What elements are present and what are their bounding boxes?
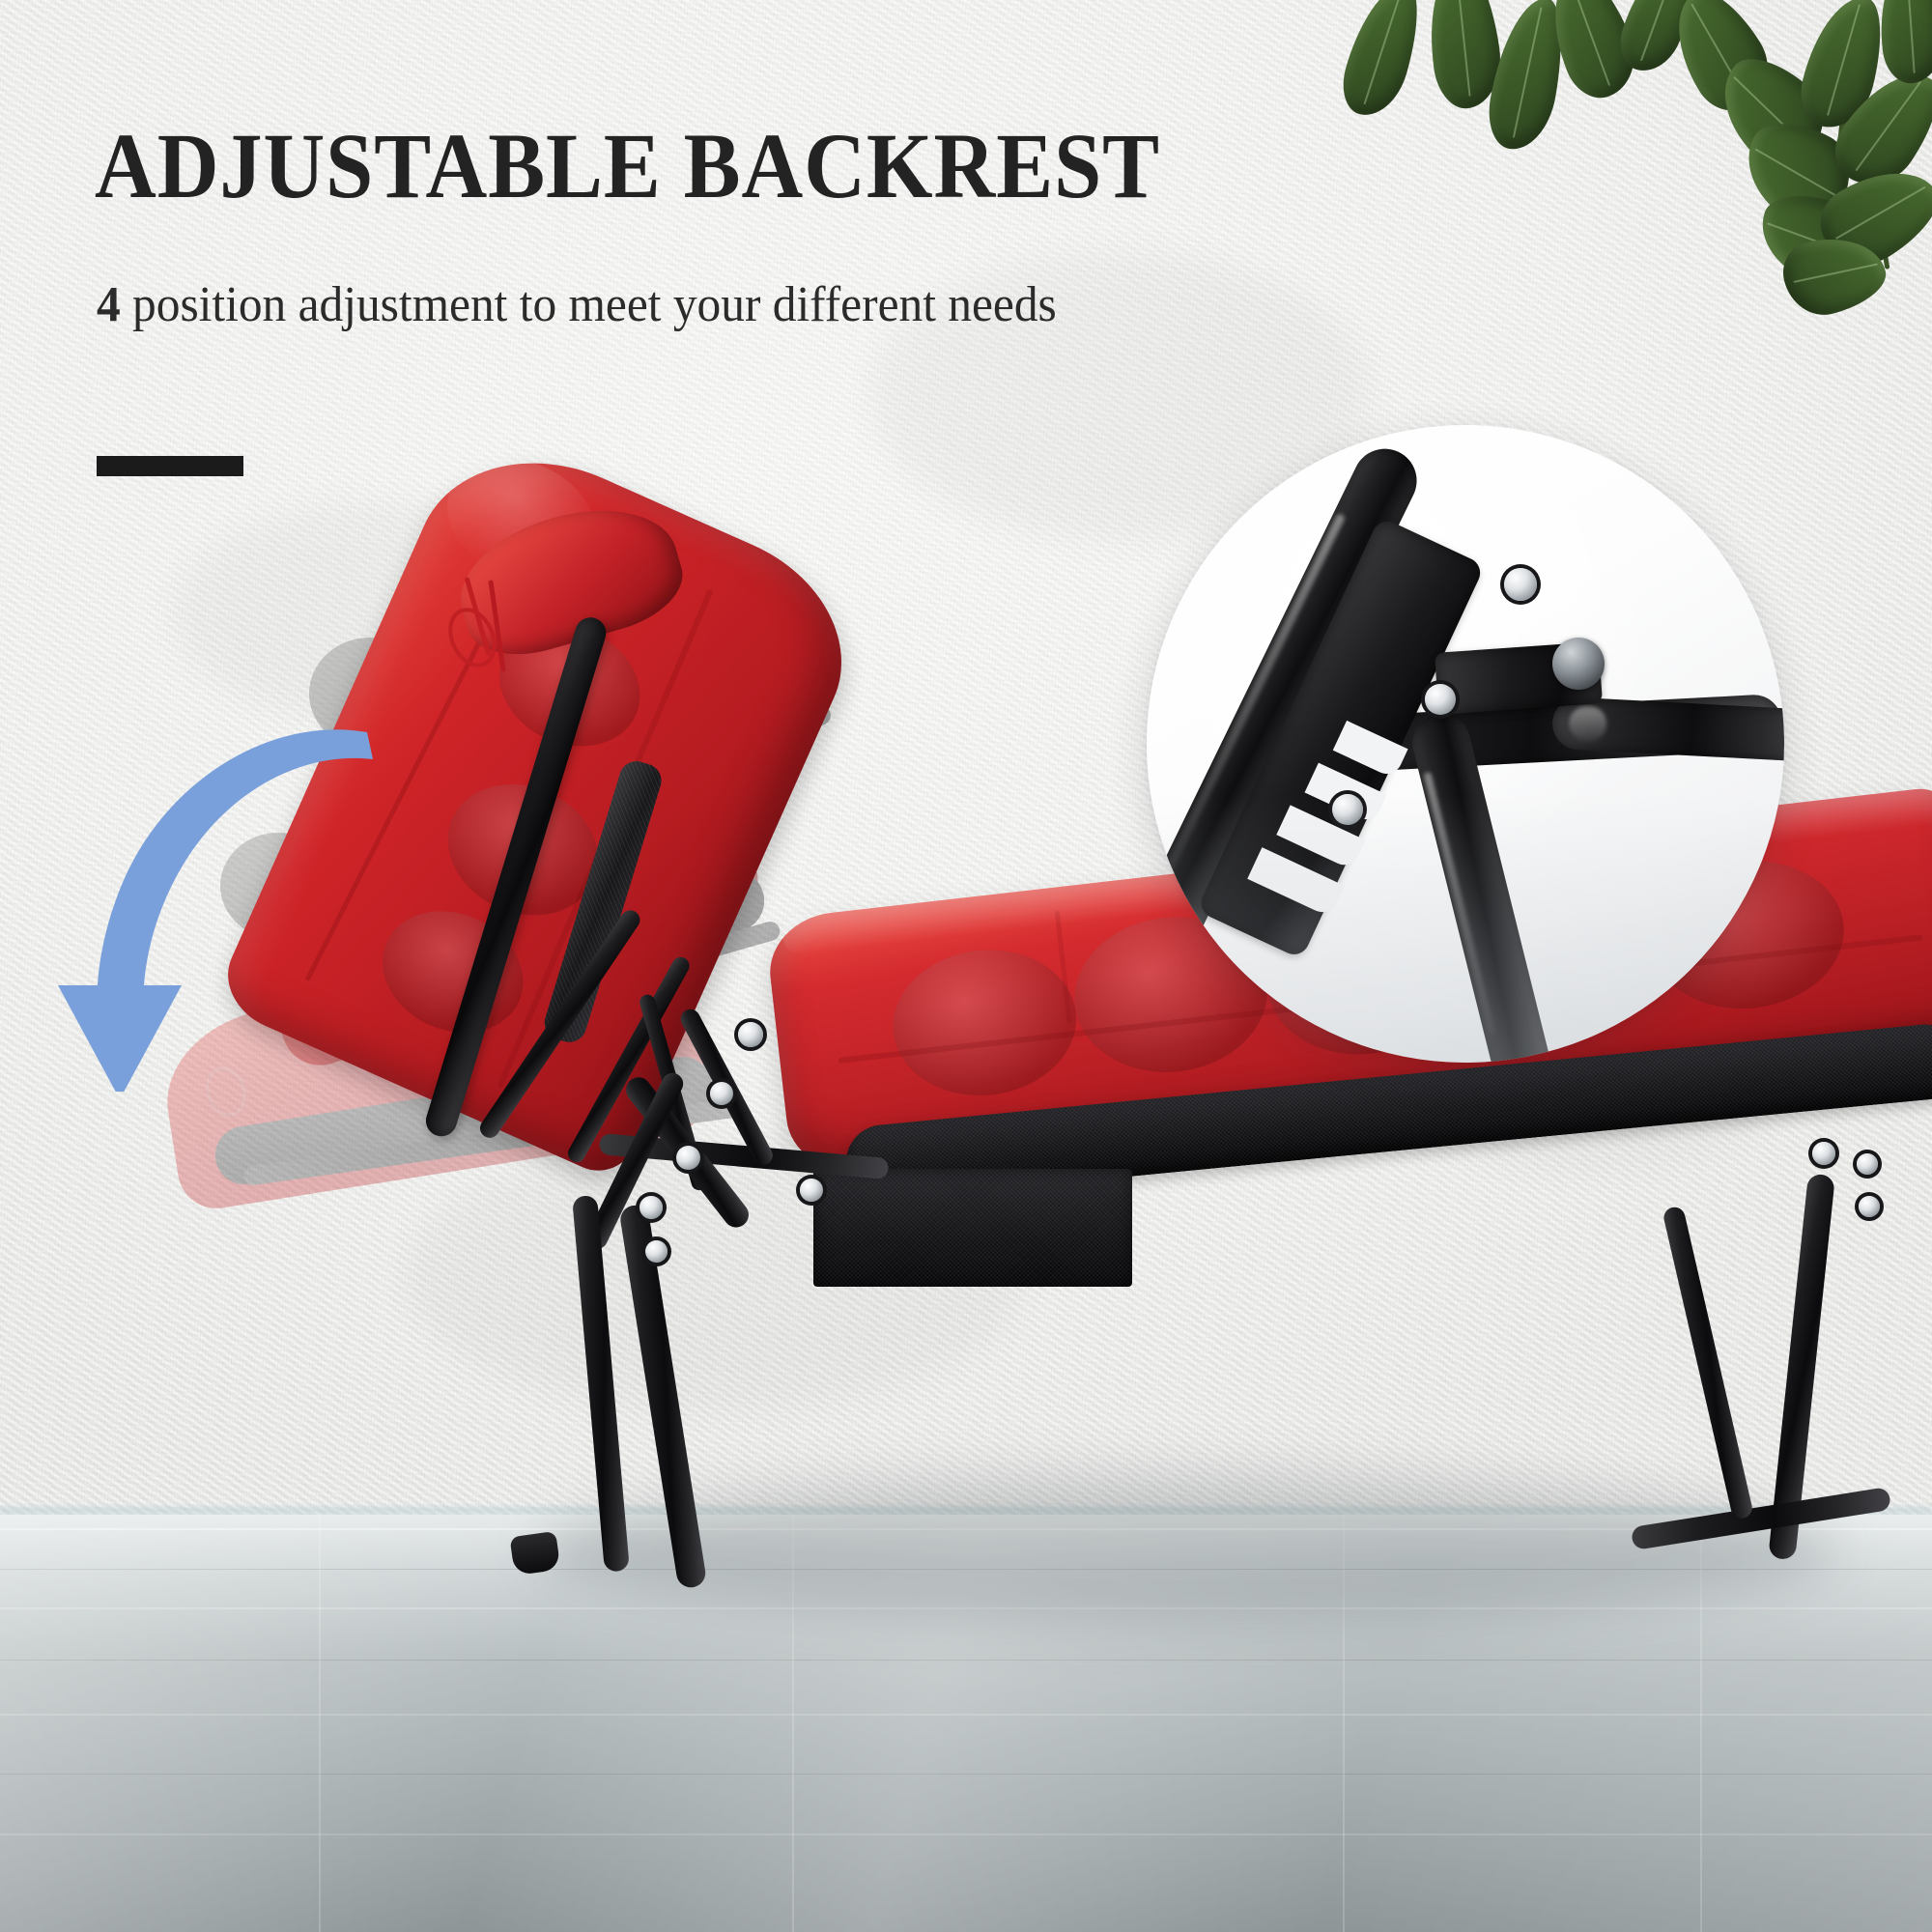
mesh-side-valance — [813, 1169, 1132, 1287]
front-leg — [618, 1204, 707, 1590]
rear-leg-brace — [1662, 1206, 1754, 1520]
subtitle-rest: position adjustment to meet your differe… — [121, 277, 1057, 332]
product-feature-banner: ADJUSTABLE BACKREST 4 position adjustmen… — [0, 0, 1932, 1932]
frame-rivet — [710, 1082, 733, 1105]
bracket-detail-inset — [1147, 425, 1784, 1063]
frame-rivet — [676, 1146, 700, 1170]
frame-rivet — [738, 1022, 763, 1047]
frame-rivet — [639, 1196, 663, 1219]
frame-rivet — [645, 1240, 668, 1263]
page-title: ADJUSTABLE BACKREST — [95, 120, 1160, 213]
frame-rivet — [1857, 1153, 1878, 1175]
front-leg — [572, 1195, 630, 1573]
rear-leg-foot-rail — [1631, 1487, 1891, 1550]
notch-position-1 — [1333, 721, 1408, 779]
subtitle-lead-number: 4 — [97, 277, 121, 332]
bracket-rivet — [1425, 684, 1456, 715]
frame-rivet — [1812, 1142, 1835, 1165]
frame-rivet — [800, 1179, 823, 1202]
recline-direction-arrow-icon — [29, 676, 435, 1092]
accent-dash-rule — [97, 456, 243, 476]
page-subtitle: 4 position adjustment to meet your diffe… — [97, 280, 1057, 330]
bracket-rivet — [1504, 568, 1537, 601]
lock-pin-knob — [1552, 638, 1605, 690]
frame-rivet — [1859, 1196, 1880, 1217]
leg-foot-cap — [509, 1531, 560, 1576]
